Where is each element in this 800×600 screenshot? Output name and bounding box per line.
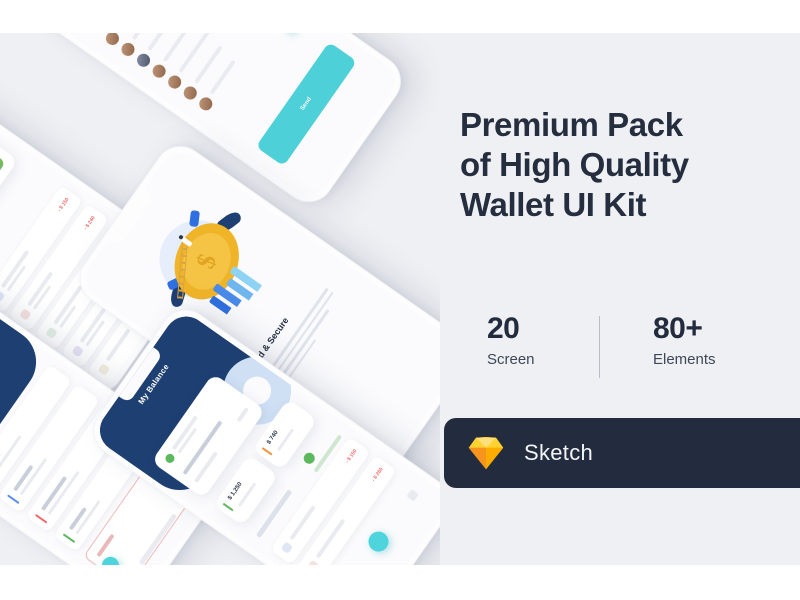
avatar: [181, 84, 199, 102]
card-expiry: [236, 407, 248, 422]
promo-banner: Send Profile $ 10,000.00 +12%: [0, 0, 800, 600]
stats-divider: [599, 316, 600, 378]
expense-label: [277, 428, 294, 451]
send-button-label: Send: [267, 50, 345, 158]
tx-icon: [307, 560, 320, 565]
avatar: [166, 73, 184, 91]
tx-title: [290, 505, 316, 540]
tx-icon: [281, 541, 294, 554]
logout-label: [96, 534, 114, 558]
expense-amount: $ 740: [266, 430, 280, 446]
add-contact-fab[interactable]: [282, 33, 297, 35]
accent-bar: [7, 494, 20, 504]
tx-amount: - $ 150: [57, 197, 71, 213]
stat-screens-label: Screen: [487, 349, 535, 371]
tx-amount: - $ 260: [371, 467, 385, 483]
balance-card: $ 10,000.00 +12%: [0, 116, 18, 266]
stats-group: 20 Screen 80+ Elements: [460, 311, 790, 416]
phone-notch: [109, 188, 155, 246]
tx-icon: [98, 363, 111, 376]
tx-amount: - $ 150: [344, 448, 358, 464]
headline-line-3: Wallet UI Kit: [460, 185, 790, 225]
stat-elements-number: 80+: [653, 311, 716, 347]
accent-bar: [223, 503, 234, 512]
stat-screens-number: 20: [487, 311, 535, 347]
accent-bar: [63, 533, 76, 543]
tx-title: [316, 519, 345, 559]
status-dot: [302, 451, 317, 466]
sketch-badge-label: Sketch: [524, 440, 593, 466]
tx-icon: [19, 308, 32, 321]
avatar: [103, 33, 121, 48]
tx-icon: [71, 345, 84, 358]
add-fab[interactable]: [365, 528, 393, 556]
coin-illustration: $: [135, 187, 293, 346]
send-button[interactable]: Send: [256, 42, 357, 166]
avatar: [135, 51, 153, 69]
sketch-diamond-icon: [468, 437, 504, 470]
phone-mockups-group: Send Profile $ 10,000.00 +12%: [0, 33, 440, 565]
search-input[interactable]: [82, 33, 169, 34]
accent-bar: [35, 514, 48, 524]
headline-line-1: Premium Pack: [460, 105, 790, 145]
tx-title: [106, 328, 131, 361]
fin-blue-top: [189, 210, 200, 227]
headline-line-2: of High Quality: [460, 145, 790, 185]
contact-name: [163, 33, 188, 62]
stat-elements: 80+ Elements: [653, 311, 716, 371]
contact-name: [210, 60, 236, 95]
mini-chart: [0, 148, 6, 195]
tabbar-profile-icon[interactable]: [406, 489, 419, 502]
avatar: [119, 40, 137, 58]
avatar: [197, 95, 215, 113]
avatar: [150, 62, 168, 80]
card-brand-icon: [164, 452, 177, 465]
tx-icon: [0, 290, 5, 303]
tx-amount: - $ 240: [83, 215, 97, 231]
tx-icon: [45, 327, 58, 340]
sketch-badge[interactable]: Sketch: [444, 418, 800, 488]
stat-elements-label: Elements: [653, 349, 716, 371]
accent-bar: [262, 447, 273, 456]
stat-screens: 20 Screen: [487, 311, 535, 371]
promo-text-panel: Premium Pack of High Quality Wallet UI K…: [440, 33, 800, 565]
page-title: Premium Pack of High Quality Wallet UI K…: [460, 105, 790, 225]
